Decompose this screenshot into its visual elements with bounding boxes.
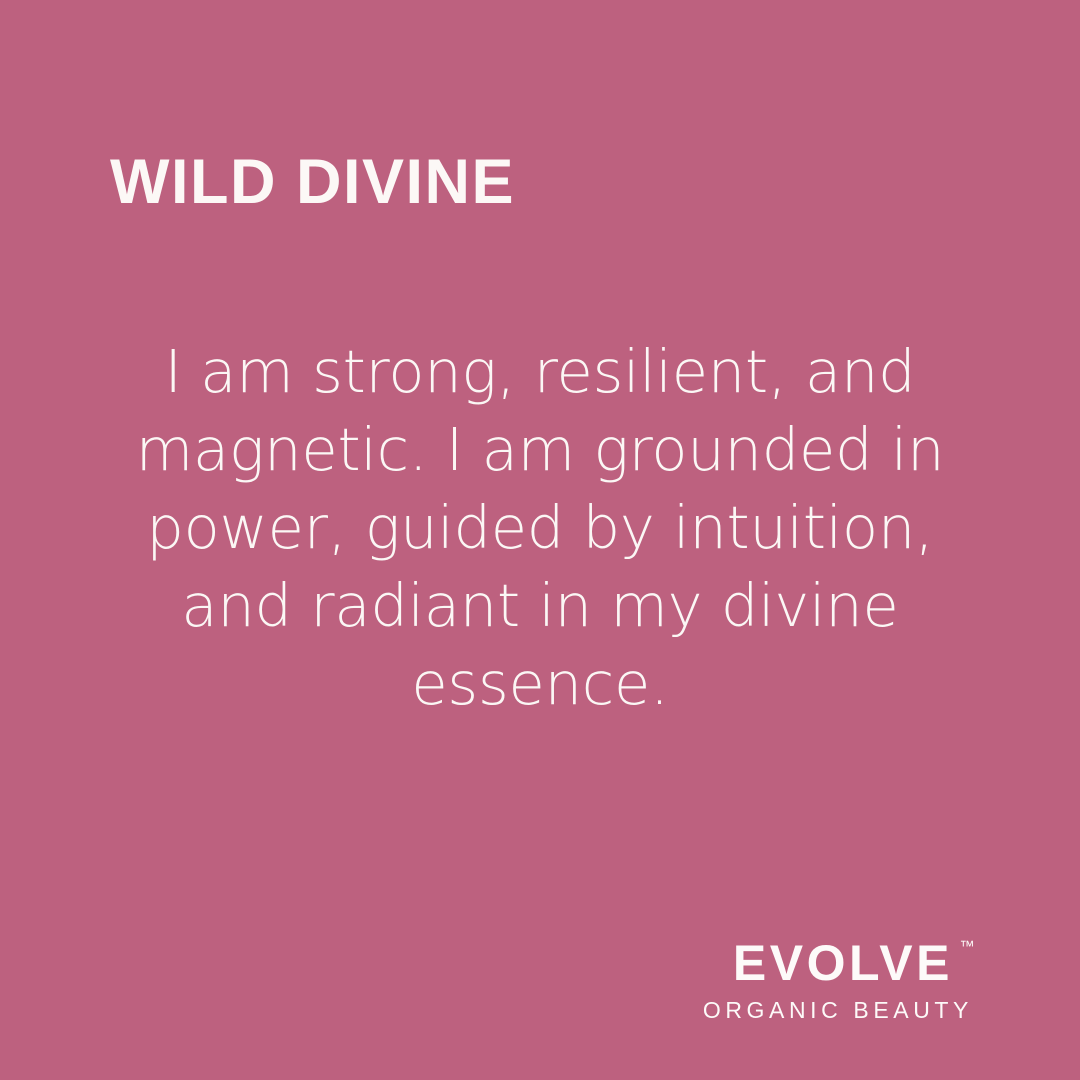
brand-tagline: ORGANIC BEAUTY <box>703 999 975 1022</box>
quote-line: essence. <box>90 645 990 723</box>
brand-logo: EVOLVE™ ORGANIC BEAUTY <box>703 938 975 1022</box>
affirmation-quote: I am strong, resilient, and magnetic. I … <box>90 333 990 723</box>
quote-line: magnetic. I am grounded in <box>90 411 990 489</box>
affirmation-card: WILD DIVINE I am strong, resilient, and … <box>0 0 1080 1080</box>
brand-wordmark: EVOLVE™ <box>733 938 975 988</box>
page-title: WILD DIVINE <box>110 150 970 216</box>
trademark-icon: ™ <box>960 939 976 954</box>
quote-line: power, guided by intuition, <box>90 489 990 567</box>
quote-line: I am strong, resilient, and <box>90 333 990 411</box>
brand-wordmark-text: EVOLVE <box>733 935 953 991</box>
quote-line: and radiant in my divine <box>90 567 990 645</box>
